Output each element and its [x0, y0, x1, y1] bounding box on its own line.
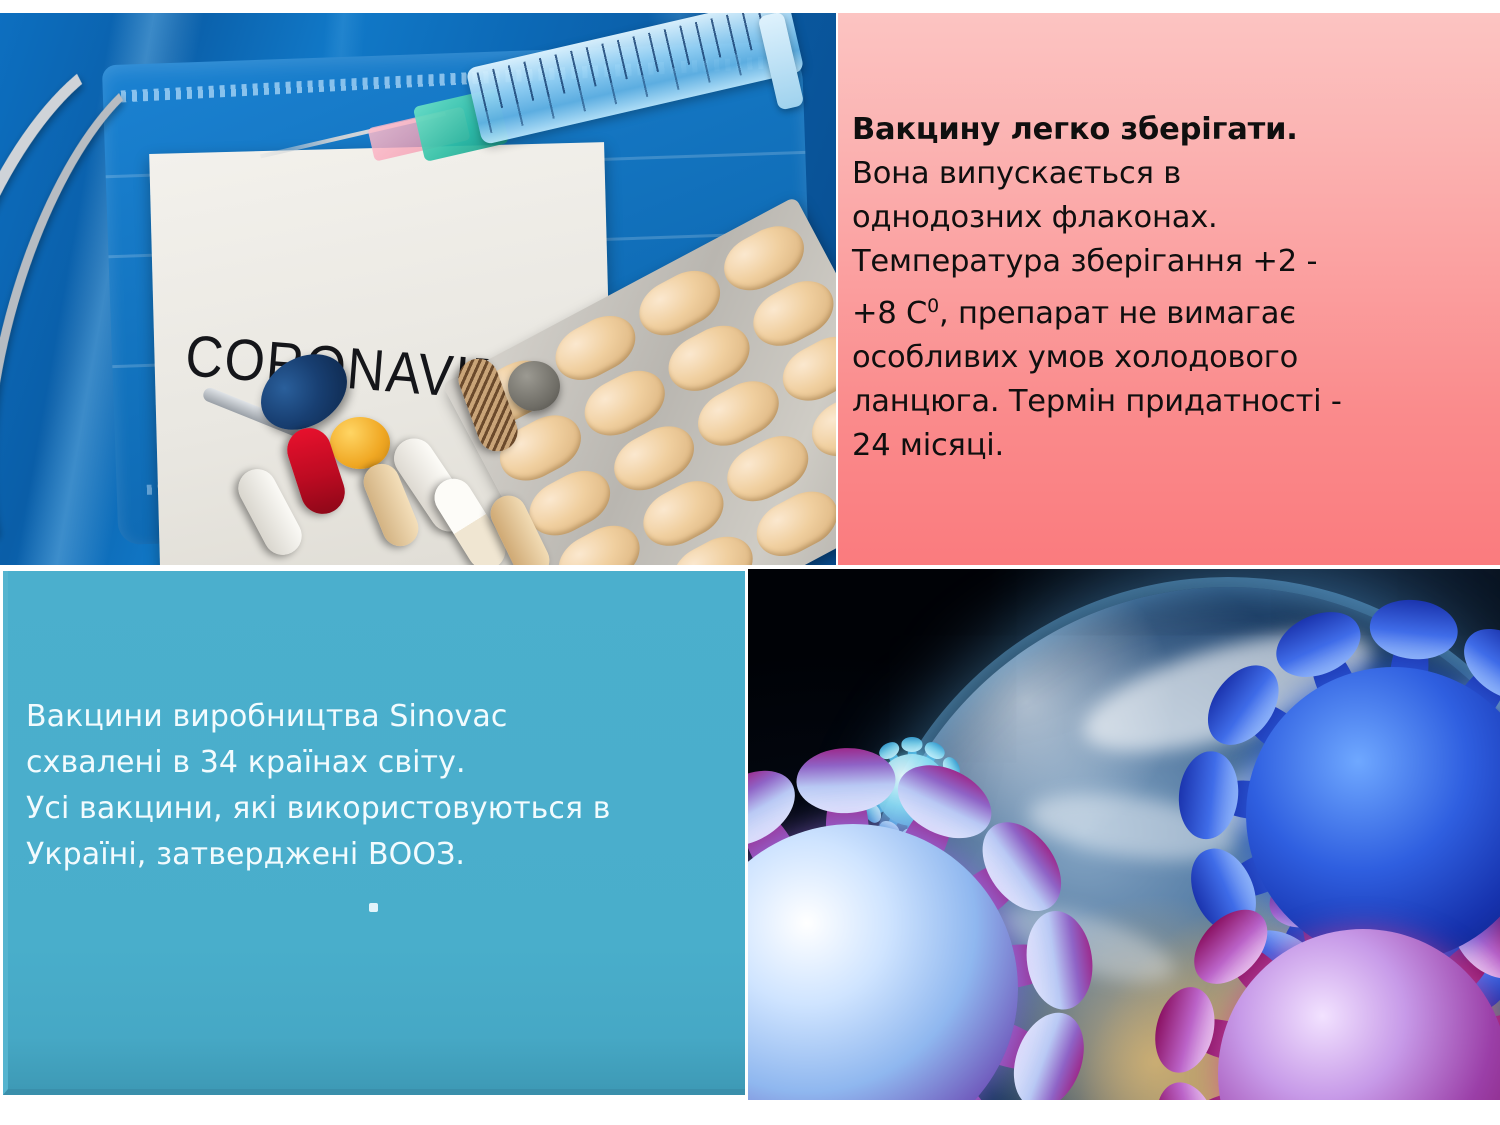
storage-info-line-4-rest: , препарат не вимагає — [939, 296, 1296, 331]
storage-info-text: Вакцину легко зберігати. Вона випускаєть… — [852, 108, 1478, 468]
storage-temp-upper: +8 C — [852, 296, 927, 331]
stray-period-mark — [369, 903, 378, 912]
pill-orange-round — [330, 417, 390, 469]
virus-particle-magenta — [1218, 929, 1500, 1100]
coronavirus-pills-photo: CORONAVIRUS — [0, 13, 836, 565]
storage-info-line-4: +8 C0, препарат не вимагає — [852, 284, 1478, 336]
approval-info-text: Вакцини виробництва Sinovac схвалені в 3… — [26, 694, 735, 878]
storage-info-line-1: Вона випускається в — [852, 152, 1478, 196]
storage-info-line-3: Температура зберігання +2 - — [852, 240, 1478, 284]
storage-info-line-5: особливих умов холодового — [852, 336, 1478, 380]
storage-info-line-7: 24 місяці. — [852, 424, 1478, 468]
storage-info-panel: Вакцину легко зберігати. Вона випускаєть… — [838, 13, 1500, 565]
storage-info-line-2: однодозних флаконах. — [852, 196, 1478, 240]
slide-canvas: CORONAVIRUS — [0, 0, 1500, 1125]
degree-superscript: 0 — [927, 295, 939, 317]
earth-virus-photo — [748, 569, 1500, 1100]
storage-info-heading: Вакцину легко зберігати. — [852, 108, 1478, 152]
storage-info-line-6: ланцюга. Термін придатності - — [852, 380, 1478, 424]
approval-info-panel: Вакцини виробництва Sinovac схвалені в 3… — [3, 571, 745, 1095]
pill-grey-round — [508, 361, 560, 411]
virus-particle-violet — [748, 824, 1018, 1100]
